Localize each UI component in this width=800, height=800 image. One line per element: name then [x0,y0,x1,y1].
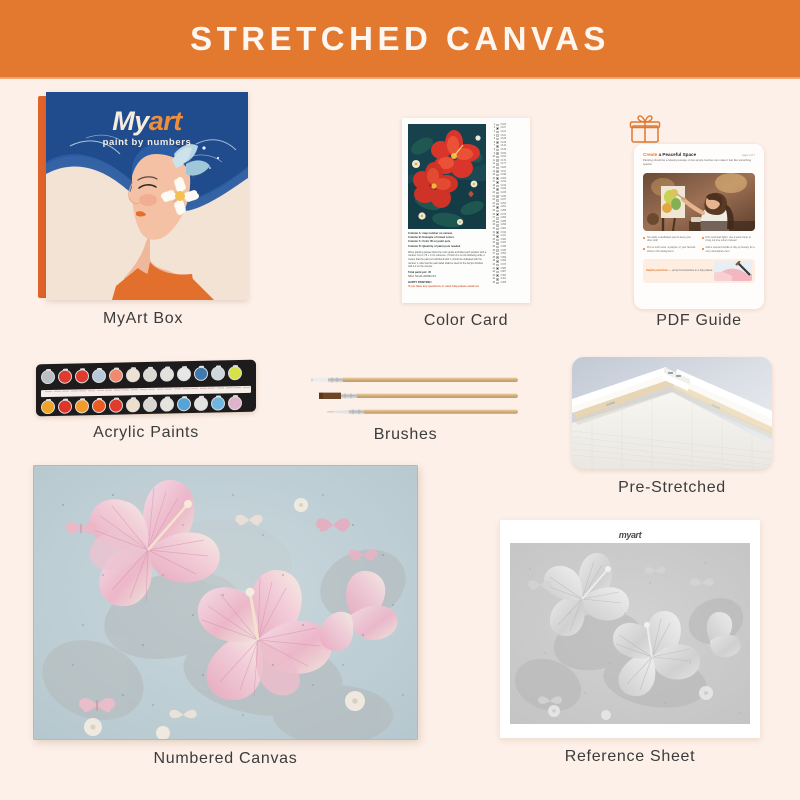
paint-pot [159,366,175,385]
paint-pot-body [75,399,89,413]
pdf-bullet-text: Add a scented candle or tidy up loosely … [706,246,756,254]
pdf-bullet: Add a scented candle or tidy up loosely … [702,246,756,254]
gift-icon [628,114,770,144]
swatch-index: 45 [491,282,495,284]
swatch-code: C233 [501,192,525,194]
swatch-index: 29 [491,224,495,226]
paint-label-tick [148,389,155,390]
swatch-code: C338 [501,246,525,248]
paint-label-tick [79,390,86,391]
paint-label-tick [234,387,241,388]
pdf-page-number: page 1 of 7 [742,154,755,157]
paint-label-tick [226,387,233,388]
swatch-code: C380 [501,268,525,270]
paint-label-tick [71,390,78,391]
paint-label-tick [54,391,61,392]
paint-pot-body [177,367,191,381]
pdf-bullet: Put on soft music, a playlist, or your f… [643,246,697,254]
swatch-index: 28 [491,221,495,223]
color-card-artwork [408,124,486,229]
swatch-code: C128 [501,138,525,140]
pdf-bullet-text: Dim overhead lights, use a warm lamp to … [706,236,756,244]
bullet-dot-icon [702,237,704,239]
swatch-code: C261 [501,206,525,208]
paint-pot [227,364,243,383]
swatch-index: 16 [491,178,495,180]
page-header: STRETCHED CANVAS [0,0,800,77]
swatch-chip [496,282,499,285]
swatch-code: C275 [501,214,525,216]
swatch-code: C324 [501,239,525,241]
swatch-index: 30 [491,228,495,230]
swatch-code: C149 [501,149,525,151]
label-pre-stretched: Pre-Stretched [572,479,772,497]
paint-pot [40,368,56,387]
paint-pot-body [160,397,174,411]
product-numbered-canvas[interactable]: Numbered Canvas [33,465,418,775]
swatch-code: C373 [501,264,525,266]
swatch-code: C240 [501,196,525,198]
paint-label-tick [62,391,69,392]
paint-pot-body [75,369,89,383]
bullet-dot-icon [702,248,704,250]
pdf-tip-accent: Helpful perfection [646,269,668,272]
label-color-card: Color Card [402,312,530,330]
product-reference-sheet[interactable]: myart [500,520,760,775]
pdf-bullet: Dim overhead lights, use a warm lamp to … [702,236,756,244]
paint-pot [91,367,107,386]
paint-pot [74,398,90,417]
paint-pot [91,397,107,416]
swatch-code: C289 [501,221,525,223]
label-numbered-canvas: Numbered Canvas [33,750,418,768]
paint-pot [176,366,192,385]
swatch-code: C205 [501,178,525,180]
paint-pot-body [143,397,157,411]
swatch-index: 4 [491,135,495,137]
paint-pot-body [58,369,72,383]
paint-pot-body [228,395,242,409]
header-underline [0,77,800,79]
pdf-title-rest: a Peaceful Space [657,152,696,157]
paint-row-top [40,363,252,389]
cc-paragraph: When painting please follow the color gu… [408,251,487,269]
swatch-code: C219 [501,185,525,187]
swatch-index: 9 [491,153,495,155]
swatch-code: C114 [501,131,525,133]
swatch-index: 7 [491,145,495,147]
swatch-code: C401 [501,278,525,280]
paint-label-tick [122,389,129,390]
label-brushes: Brushes [293,426,518,444]
color-swatch-list: 1C1002C1073C1144C1215C1286C1357C1428C149… [491,123,525,298]
swatch-code: C212 [501,181,525,183]
swatch-index: 2 [491,127,495,129]
color-swatch-row: 45C408 [491,281,525,285]
box-tagline: paint by numbers [46,137,248,148]
paint-label-tick [174,388,181,389]
paint-row-bottom [40,393,252,419]
swatch-index: 37 [491,253,495,255]
paint-pot [142,396,158,415]
swatch-code: C387 [501,271,525,273]
paint-pot [40,398,56,417]
paint-pot-body [92,368,106,382]
swatch-code: C317 [501,235,525,237]
page-title: STRETCHED CANVAS [190,20,610,58]
grayscale-hibiscus [510,543,750,724]
paint-label-tick [208,388,215,389]
cc-column-d: Column D: Quantity of paint pots needed [408,245,487,249]
swatch-index: 26 [491,214,495,216]
pdf-tip-text: Helpful perfection — pretty brushstrokes… [646,269,714,273]
swatch-index: 13 [491,167,495,169]
swatch-code: C366 [501,260,525,262]
pdf-bullet-text: Put on soft music, a playlist, or your f… [647,246,697,254]
swatch-index: 5 [491,138,495,140]
paint-pot-body [41,399,55,413]
pdf-subtitle: Painting should be a relaxing escape. A … [643,159,755,168]
paint-pot [108,367,124,386]
pdf-bullet: Set aside a dedicated spot to keep your … [643,236,697,244]
swatch-code: C296 [501,224,525,226]
paint-pot-body [194,366,208,380]
swatch-code: C247 [501,199,525,201]
swatch-code: C191 [501,171,525,173]
pdf-title: Create a Peaceful Space [643,152,696,157]
pdf-guide-page: Create a Peaceful Space page 1 of 7 Pain… [634,144,764,309]
swatch-index: 8 [491,149,495,151]
pdf-header-row: Create a Peaceful Space page 1 of 7 [643,152,755,157]
paint-pot-body [211,366,225,380]
paint-label-tick [140,389,147,390]
swatch-code: C345 [501,250,525,252]
swatch-index: 1 [491,124,495,126]
paint-label-tick [97,390,104,391]
swatch-index: 20 [491,192,495,194]
paint-pot [57,368,73,387]
swatch-index: 12 [491,163,495,165]
paint-label-tick [131,389,138,390]
paint-label-tick [200,388,207,389]
paint-pot [210,395,226,414]
swatch-index: 15 [491,174,495,176]
paint-pot-body [109,398,123,412]
swatch-code: C121 [501,135,525,137]
pdf-tip-box: Helpful perfection — pretty brushstrokes… [643,259,755,283]
myart-logo: Myart [46,106,248,137]
paint-pot [227,394,243,413]
swatch-code: C107 [501,127,525,129]
swatch-index: 42 [491,271,495,273]
swatch-index: 24 [491,206,495,208]
swatch-code: C226 [501,188,525,190]
paint-pot [108,397,124,416]
pre-stretched-photo [572,357,772,469]
paint-label-tick [105,390,112,391]
paint-pot [193,395,209,414]
reference-sheet-paper: myart [500,520,760,738]
swatch-code: C156 [501,153,525,155]
paint-label-tick [243,387,250,388]
color-card-instructions: Column A: map number on canvas Column B:… [408,232,487,290]
swatch-code: C282 [501,217,525,219]
swatch-code: C163 [501,156,525,158]
paint-pot-body [160,367,174,381]
label-reference-sheet: Reference Sheet [500,748,760,766]
logo-my-text: My [112,106,149,136]
paint-pot-body [109,368,123,382]
swatch-index: 44 [491,278,495,280]
color-card-sheet: Column A: map number on canvas Column B:… [402,118,530,303]
swatch-code: C142 [501,145,525,147]
paint-pot [210,365,226,384]
paint-pot-body [211,396,225,410]
paint-tray [36,360,256,417]
pdf-bullet-list: Set aside a dedicated spot to keep your … [643,236,755,254]
paint-label-tick [191,388,198,389]
paint-pot [74,368,90,387]
paint-pot-body [177,397,191,411]
product-acrylic-paints[interactable]: Acrylic Paints [36,362,256,454]
swatch-index: 6 [491,142,495,144]
swatch-code: C359 [501,257,525,259]
swatch-index: 25 [491,210,495,212]
swatch-index: 35 [491,246,495,248]
swatch-code: C331 [501,242,525,244]
paint-pot-body [126,398,140,412]
swatch-code: C394 [501,275,525,277]
swatch-index: 27 [491,217,495,219]
paint-label-tick [157,389,164,390]
product-myart-box[interactable]: Myart paint by numbers MyArt Box [38,92,248,337]
paint-pot-body [228,365,242,379]
swatch-index: 38 [491,257,495,259]
swatch-index: 43 [491,275,495,277]
numbered-canvas-surface [33,465,418,740]
paint-label-tick [45,391,52,392]
swatch-index: 11 [491,160,495,162]
product-color-card[interactable]: Column A: map number on canvas Column B:… [402,118,530,333]
paint-label-tick [88,390,95,391]
pdf-photo [643,173,755,231]
swatch-code: C177 [501,163,525,165]
paint-pot-body [41,369,55,383]
paint-pot-body [194,396,208,410]
product-brushes[interactable]: Brushes [293,368,518,454]
swatch-code: C135 [501,142,525,144]
paint-label-tick [217,387,224,388]
pdf-tip-image [714,261,752,281]
hibiscus-painting [408,124,486,229]
paint-pot [125,397,141,416]
canvas-corner-illustration [572,357,772,469]
swatch-index: 19 [491,188,495,190]
swatch-index: 31 [491,232,495,234]
swatch-index: 33 [491,239,495,241]
swatch-index: 23 [491,203,495,205]
pdf-tip-rest: — pretty brushstrokes in a tidy palette. [668,269,713,272]
product-pdf-guide[interactable]: Create a Peaceful Space page 1 of 7 Pain… [628,114,770,334]
label-acrylic-paints: Acrylic Paints [36,424,256,442]
swatch-index: 34 [491,242,495,244]
swatch-index: 41 [491,268,495,270]
swatch-code: C408 [501,282,525,284]
swatch-index: 39 [491,260,495,262]
paint-pot [57,398,73,417]
paint-pot [176,396,192,415]
swatch-index: 21 [491,196,495,198]
paint-pot [125,367,141,386]
swatch-index: 10 [491,156,495,158]
paint-pot-body [143,367,157,381]
swatch-index: 32 [491,235,495,237]
swatch-code: C184 [501,167,525,169]
box-front-face: Myart paint by numbers [46,92,248,300]
paint-label-tick [165,388,172,389]
paint-pot-body [92,398,106,412]
swatch-code: C170 [501,160,525,162]
swatch-code: C352 [501,253,525,255]
swatch-index: 17 [491,181,495,183]
cc-sku: SKU: SC-01-22/001-P1 [408,275,487,279]
paint-pot [193,365,209,384]
paint-pot-body [58,399,72,413]
logo-art-text: art [149,106,182,136]
reference-sheet-logo: myart [510,530,750,543]
swatch-code: C254 [501,203,525,205]
reference-sheet-artwork [510,543,750,724]
swatch-index: 14 [491,171,495,173]
paint-pot [142,366,158,385]
label-pdf-guide: PDF Guide [628,312,770,330]
swatch-index: 3 [491,131,495,133]
brushes-illustration [293,368,518,426]
paint-pot-body [126,368,140,382]
swatch-code: C100 [501,124,525,126]
swatch-code: C303 [501,228,525,230]
swatch-index: 36 [491,250,495,252]
label-myart-box: MyArt Box [38,310,248,328]
numbered-canvas-artwork [33,465,418,740]
swatch-index: 40 [491,264,495,266]
pdf-title-accent: Create [643,152,657,157]
paint-pot [159,396,175,415]
swatch-index: 22 [491,199,495,201]
bullet-dot-icon [643,248,645,250]
bullet-dot-icon [643,237,645,239]
pdf-bullet-text: Set aside a dedicated spot to keep your … [647,236,697,244]
swatch-code: C268 [501,210,525,212]
paint-label-tick [114,390,121,391]
product-pre-stretched[interactable]: Pre-Stretched [572,357,772,507]
swatch-index: 18 [491,185,495,187]
cc-contact: If you have any questions or need help p… [408,285,487,289]
paint-label-tick [183,388,190,389]
swatch-code: C310 [501,232,525,234]
swatch-code: C198 [501,174,525,176]
